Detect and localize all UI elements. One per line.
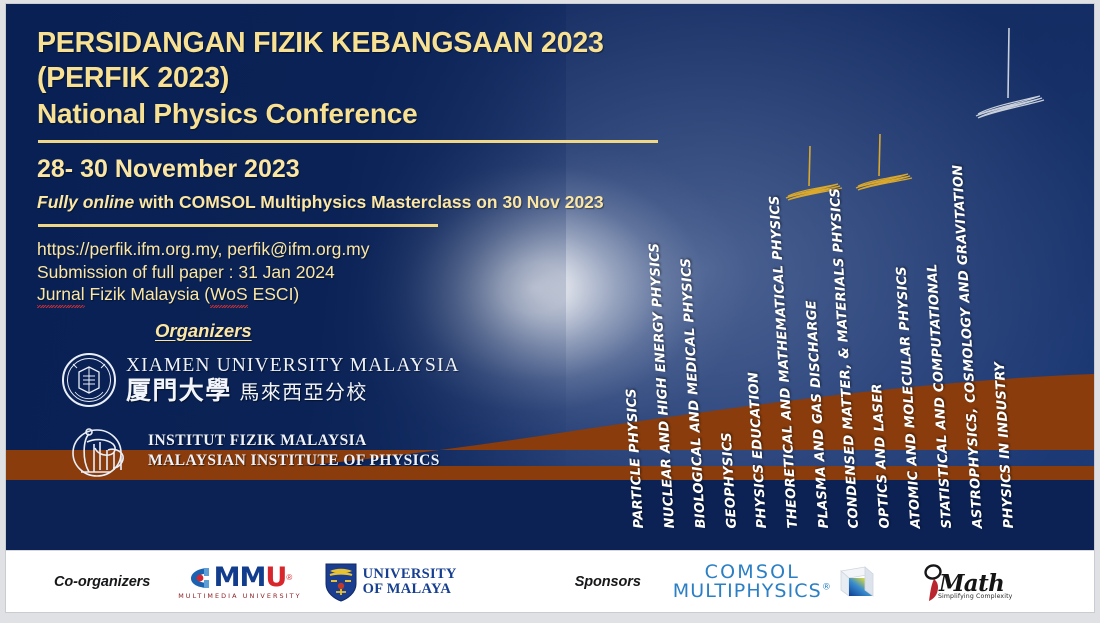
topic-nuclear-and-high-energy-physics: NUCLEAR AND HIGH ENERGY PHYSICS bbox=[647, 242, 678, 529]
topic-geophysics: GEOPHYSICS bbox=[720, 432, 740, 529]
mmu-wordmark-u: U bbox=[265, 564, 286, 591]
um-line-1: UNIVERSITY bbox=[363, 567, 457, 582]
poster-canvas: PERSIDANGAN FIZIK KEBANGSAAN 2023 (PERFI… bbox=[6, 4, 1094, 550]
conference-topics-list: PARTICLE PHYSICS NUCLEAR AND HIGH ENERGY… bbox=[6, 4, 1094, 550]
imath-tagline: Simplifying Complexity bbox=[938, 593, 1013, 600]
topic-astrophysics-cosmology-and-gravitation: ASTROPHYSICS, COSMOLOGY AND GRAVITATION bbox=[951, 164, 986, 529]
mmu-swoosh-icon bbox=[188, 565, 214, 591]
comsol-registered-mark: ® bbox=[822, 583, 832, 593]
topic-atomic-and-molecular-physics: ATOMIC AND MOLECULAR PHYSICS bbox=[894, 266, 924, 529]
comsol-cube-icon bbox=[839, 565, 875, 599]
sponsor-imath-logo[interactable]: Math Simplifying Complexity bbox=[919, 561, 1005, 603]
co-organizer-university-of-malaya-logo[interactable]: UNIVERSITY OF MALAYA bbox=[324, 562, 457, 602]
topic-physics-in-industry: PHYSICS IN INDUSTRY bbox=[993, 361, 1017, 528]
mmu-registered-mark: ® bbox=[286, 573, 292, 582]
conference-poster-slide: PERSIDANGAN FIZIK KEBANGSAAN 2023 (PERFI… bbox=[0, 0, 1100, 623]
topic-particle-physics: PARTICLE PHYSICS bbox=[624, 388, 647, 529]
topic-biological-and-medical-physics: BIOLOGICAL AND MEDICAL PHYSICS bbox=[679, 257, 709, 528]
topic-optics-and-laser: OPTICS AND LASER bbox=[870, 383, 893, 529]
um-text-block: UNIVERSITY OF MALAYA bbox=[363, 567, 457, 597]
topic-theoretical-and-mathematical-physics: THEORETICAL AND MATHEMATICAL PHYSICS bbox=[767, 195, 801, 529]
comsol-line-2: MULTIPHYSICS® bbox=[673, 582, 832, 601]
co-organizer-mmu-logo[interactable]: MM U ® MULTIMEDIA UNIVERSITY bbox=[178, 564, 301, 600]
university-of-malaya-shield-icon bbox=[324, 562, 358, 602]
comsol-wordmark: COMSOL MULTIPHYSICS® bbox=[673, 563, 832, 601]
sponsor-comsol-multiphysics-logo[interactable]: COMSOL MULTIPHYSICS® bbox=[673, 563, 875, 601]
sponsors-label: Sponsors bbox=[575, 574, 641, 590]
um-line-2: OF MALAYA bbox=[363, 582, 457, 597]
topic-plasma-and-gas-discharge: PLASMA AND GAS DISCHARGE bbox=[804, 300, 832, 529]
mmu-subtitle: MULTIMEDIA UNIVERSITY bbox=[178, 592, 301, 600]
slide-frame: PERSIDANGAN FIZIK KEBANGSAAN 2023 (PERFI… bbox=[6, 4, 1094, 612]
topic-condensed-matter-and-materials-physics: CONDENSED MATTER, & MATERIALS PHYSICS bbox=[828, 188, 862, 529]
sponsor-footer-bar: Co-organizers MM U ® M bbox=[6, 550, 1094, 612]
co-organizers-label: Co-organizers bbox=[54, 574, 150, 590]
topic-statistical-and-computational: STATISTICAL AND COMPUTATIONAL bbox=[925, 263, 955, 529]
topic-physics-education: PHYSICS EDUCATION bbox=[746, 371, 770, 528]
mmu-wordmark-mm: MM bbox=[214, 564, 266, 591]
